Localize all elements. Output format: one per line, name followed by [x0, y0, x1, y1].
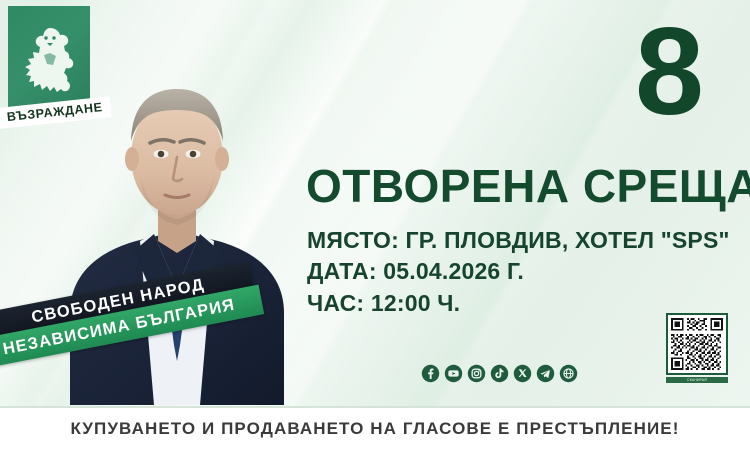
qr-code-matrix — [671, 318, 723, 370]
qr-code-block[interactable]: СКАНИРАЙ — [666, 313, 728, 383]
legal-banner: КУПУВАНЕТО И ПРОДАВАНЕТО НА ГЛАСОВЕ Е ПР… — [0, 406, 750, 450]
tiktok-icon[interactable] — [490, 364, 509, 383]
qr-code[interactable] — [666, 313, 728, 375]
telegram-icon[interactable] — [536, 364, 555, 383]
event-place: МЯСТО: ГР. ПЛОВДИВ, ХОТЕЛ "SPS" — [307, 225, 730, 256]
globe-website-icon[interactable] — [559, 364, 578, 383]
event-date: ДАТА: 05.04.2026 Г. — [307, 256, 730, 287]
ballot-number: 8 — [635, 10, 702, 134]
facebook-icon[interactable] — [421, 364, 440, 383]
page-title: ОТВОРЕНА СРЕЩА — [306, 163, 750, 209]
qr-caption: СКАНИРАЙ — [666, 377, 728, 383]
social-links — [421, 364, 578, 383]
lion-rampant-icon — [20, 25, 78, 95]
x-twitter-icon[interactable] — [513, 364, 532, 383]
event-details: МЯСТО: ГР. ПЛОВДИВ, ХОТЕЛ "SPS" ДАТА: 05… — [307, 225, 730, 319]
legal-banner-text: КУПУВАНЕТО И ПРОДАВАНЕТО НА ГЛАСОВЕ Е ПР… — [70, 419, 679, 439]
campaign-poster: ВЪЗРАЖДАНЕ — [0, 0, 750, 450]
party-logo — [8, 6, 90, 114]
youtube-icon[interactable] — [444, 364, 463, 383]
instagram-icon[interactable] — [467, 364, 486, 383]
